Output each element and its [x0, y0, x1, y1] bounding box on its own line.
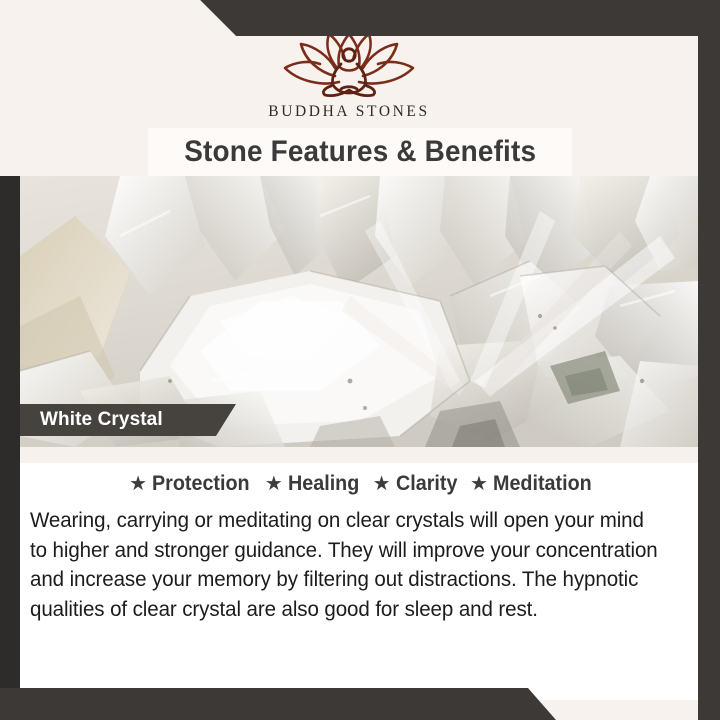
brand-name: BUDDHA STONES: [268, 103, 429, 121]
benefit-label: Protection: [152, 472, 250, 496]
frame-left-border: [0, 170, 20, 720]
star-icon: ★: [129, 474, 147, 494]
benefit-label: Clarity: [396, 472, 457, 496]
benefit-item-meditation: ★ Meditation: [461, 472, 598, 496]
brand-logo-block: BUDDHA STONES: [0, 28, 698, 121]
star-icon: ★: [265, 474, 283, 494]
description-text: Wearing, carrying or meditating on clear…: [30, 506, 660, 624]
benefit-item-protection: ★ Protection: [120, 472, 256, 496]
lotus-meditation-icon: [273, 28, 425, 98]
stone-name-text: White Crystal: [40, 409, 163, 431]
page-title: Stone Features & Benefits: [148, 128, 572, 176]
stone-name-badge: White Crystal: [20, 404, 236, 436]
star-icon: ★: [470, 474, 488, 494]
page-title-text: Stone Features & Benefits: [184, 135, 536, 169]
benefit-label: Meditation: [493, 472, 592, 496]
benefit-label: Healing: [288, 472, 359, 496]
star-icon: ★: [373, 474, 391, 494]
poster-card: BUDDHA STONES Stone Features & Benefits: [0, 0, 720, 720]
frame-right-border: [698, 0, 720, 720]
benefits-row: ★ Protection ★ Healing ★ Clarity ★ Medit…: [20, 466, 698, 502]
benefit-item-healing: ★ Healing: [256, 472, 364, 496]
benefit-item-clarity: ★ Clarity: [364, 472, 461, 496]
